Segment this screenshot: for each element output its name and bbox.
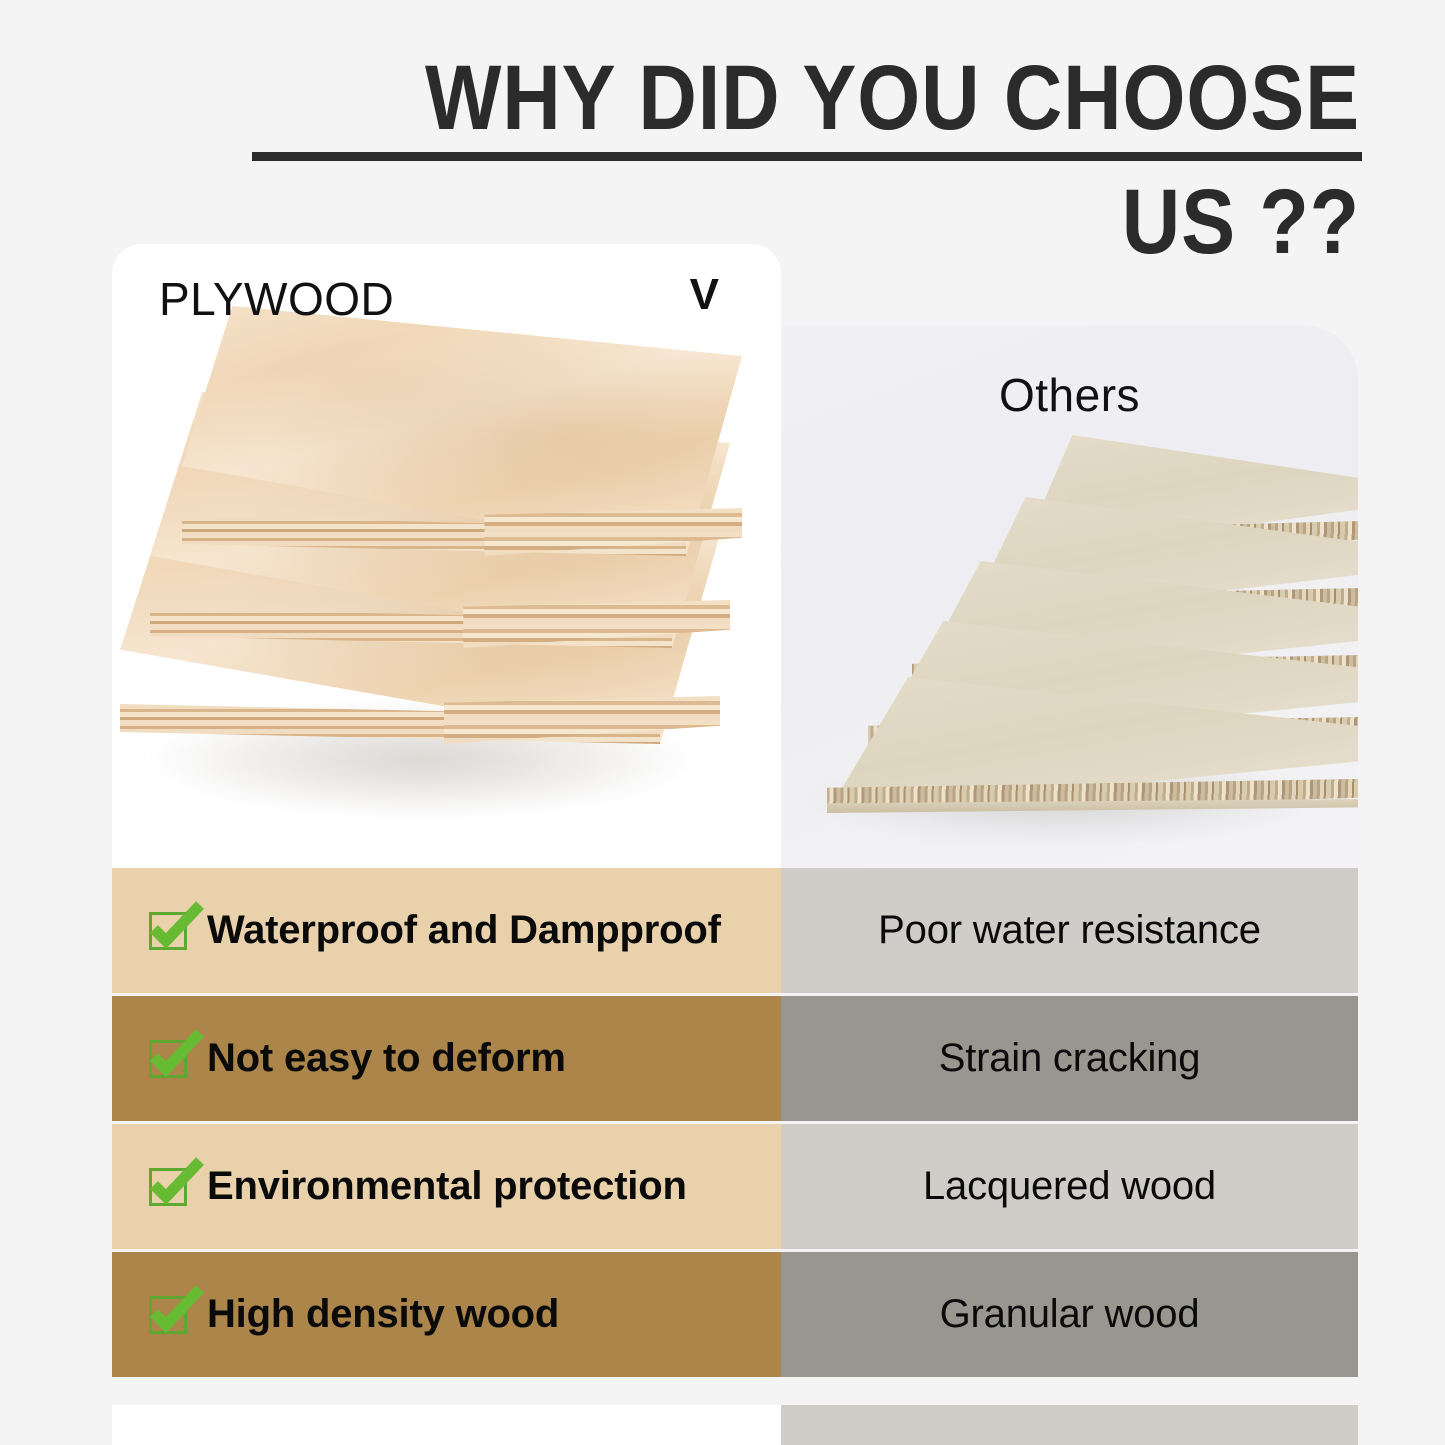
plywood-sheets-photo (112, 244, 781, 868)
others-cell: Granular wood (781, 1252, 1358, 1377)
others-label: Others (781, 368, 1358, 422)
plywood-panel: PLYWOOD V (112, 244, 781, 868)
check-square-icon (149, 1296, 187, 1334)
others-feature-text: Poor water resistance (878, 908, 1261, 953)
plywood-feature-text: Environmental protection (207, 1164, 687, 1209)
title-underline-rule (252, 152, 1362, 161)
others-cell-partial (781, 1405, 1358, 1445)
plywood-cell: Environmental protection (112, 1124, 781, 1249)
check-square-icon (149, 1168, 187, 1206)
page-header: WHY DID YOU CHOOSE US ?? (0, 0, 1445, 250)
table-row-partial (112, 1405, 1358, 1445)
others-cell: Strain cracking (781, 996, 1358, 1121)
plywood-feature-text: Not easy to deform (207, 1036, 566, 1081)
plywood-cell: Waterproof and Dampproof (112, 868, 781, 993)
others-feature-text: Granular wood (940, 1292, 1200, 1337)
plywood-cell-partial (112, 1405, 781, 1445)
page-title-line-1: WHY DID YOU CHOOSE (163, 52, 1360, 144)
plywood-feature-text: High density wood (207, 1292, 559, 1337)
others-cell: Poor water resistance (781, 868, 1358, 993)
plywood-cell: High density wood (112, 1252, 781, 1377)
plywood-label: PLYWOOD (159, 272, 394, 326)
others-feature-text: Strain cracking (939, 1036, 1201, 1081)
table-row: Waterproof and Dampproof Poor water resi… (112, 868, 1358, 993)
chevron-down-icon: V (690, 270, 719, 320)
others-panel: Others (781, 325, 1358, 868)
others-cell: Lacquered wood (781, 1124, 1358, 1249)
particle-board-panel-5 (781, 677, 1358, 813)
plywood-cell: Not easy to deform (112, 996, 781, 1121)
others-feature-text: Lacquered wood (923, 1164, 1216, 1209)
comparison-table: Waterproof and Dampproof Poor water resi… (112, 868, 1358, 1445)
table-row: High density wood Granular wood (112, 1252, 1358, 1377)
plywood-sheet-top (182, 306, 742, 556)
table-row: Environmental protection Lacquered wood (112, 1124, 1358, 1249)
table-row: Not easy to deform Strain cracking (112, 996, 1358, 1121)
plywood-feature-text: Waterproof and Dampproof (207, 908, 721, 953)
check-square-icon (149, 1040, 187, 1078)
check-square-icon (149, 912, 187, 950)
